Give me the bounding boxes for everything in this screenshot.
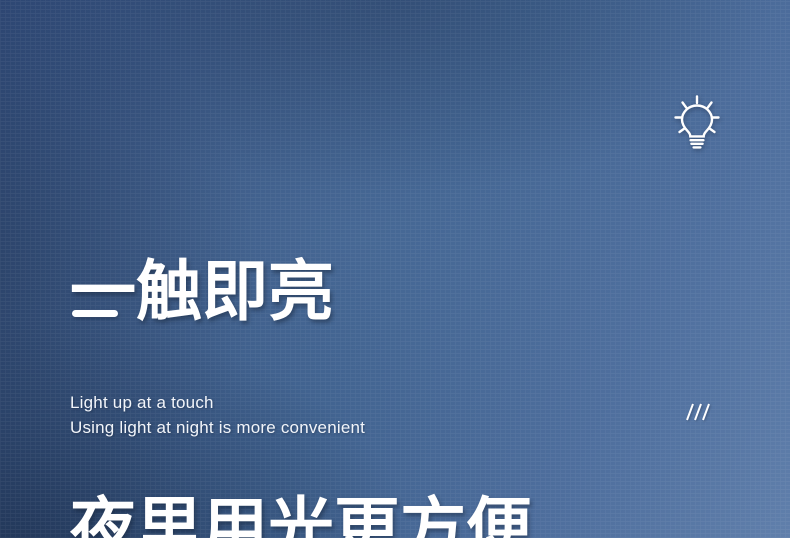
headline-line-2: 夜里用光更方便 (70, 489, 532, 538)
subtitle-line-1: Light up at a touch (70, 390, 365, 415)
divider-rule (72, 310, 118, 317)
subtitle: Light up at a touch Using light at night… (70, 390, 365, 440)
triple-slash-mark-icon (683, 402, 717, 422)
promo-banner: 一触即亮 夜里用光更方便 Light up at a touch Using l… (0, 0, 790, 538)
subtitle-line-2: Using light at night is more convenient (70, 415, 365, 440)
lightbulb-icon (669, 94, 725, 152)
headline-line-1: 一触即亮 (70, 252, 532, 331)
headline: 一触即亮 夜里用光更方便 (70, 94, 532, 538)
